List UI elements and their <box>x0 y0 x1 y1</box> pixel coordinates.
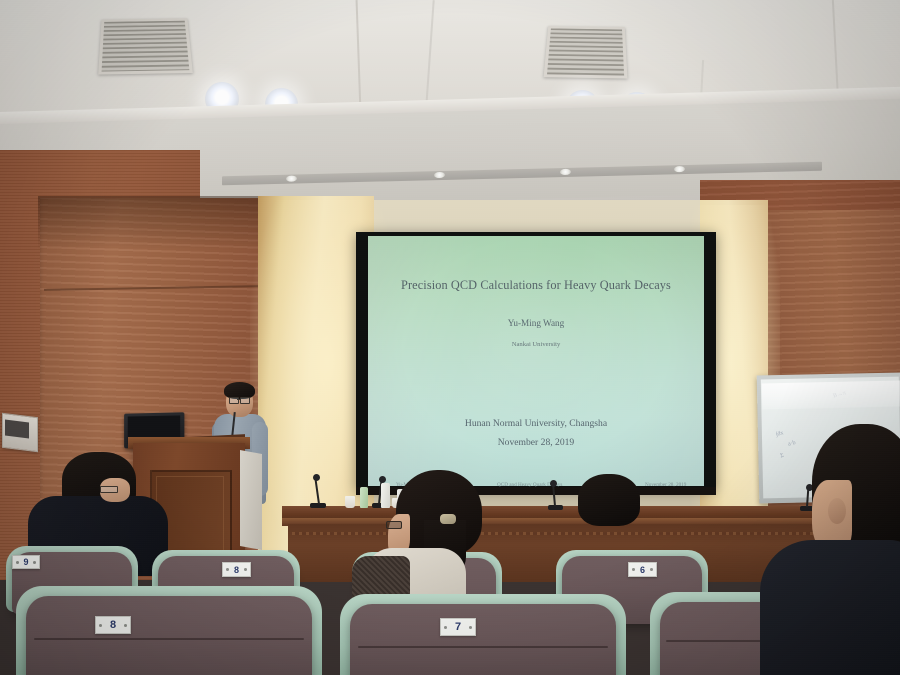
glasses-icon <box>240 397 250 404</box>
lecture-hall-photo: Precision QCD Calculations for Heavy Qua… <box>0 0 900 675</box>
air-vent-icon <box>544 26 628 79</box>
microphone-head <box>550 480 557 487</box>
water-bottle <box>360 487 368 508</box>
glasses-icon <box>100 486 118 493</box>
seat-number-plate: 8 <box>95 616 131 634</box>
hair-clip <box>440 514 456 524</box>
audience-head <box>578 474 640 526</box>
seat-number-plate: 7 <box>440 618 476 636</box>
wall-shadow <box>38 196 273 250</box>
glasses-icon <box>386 521 402 529</box>
microphone-head <box>313 474 320 481</box>
air-vent-icon <box>98 18 193 74</box>
slide-date: November 28, 2019 <box>368 437 704 448</box>
seat-number-plate: 9 <box>12 555 40 569</box>
seat-front[interactable] <box>350 604 616 675</box>
glasses-bridge <box>237 399 240 400</box>
water-bottle <box>381 483 390 508</box>
screen-vignette <box>368 236 704 486</box>
slide-author: Yu-Ming Wang <box>368 318 704 328</box>
microphone-head <box>379 476 386 483</box>
seat-crease <box>358 646 608 648</box>
ear <box>828 498 846 524</box>
slide-title: Precision QCD Calculations for Heavy Qua… <box>368 278 704 293</box>
seat-crease <box>34 638 304 640</box>
whiteboard-glare <box>762 381 900 410</box>
control-panel-display <box>5 420 29 439</box>
seat-number-plate: 6 <box>628 562 657 577</box>
podium-side-panel <box>240 450 262 550</box>
slide-affiliation: Nankai University <box>368 341 704 348</box>
front-table-trim <box>292 532 867 535</box>
seat-number-plate: 8 <box>222 562 251 577</box>
seat-front[interactable] <box>26 596 312 675</box>
slide-venue: Hunan Normal University, Changsha <box>368 418 704 429</box>
paper-cup <box>345 496 355 508</box>
audience-body <box>760 540 900 675</box>
